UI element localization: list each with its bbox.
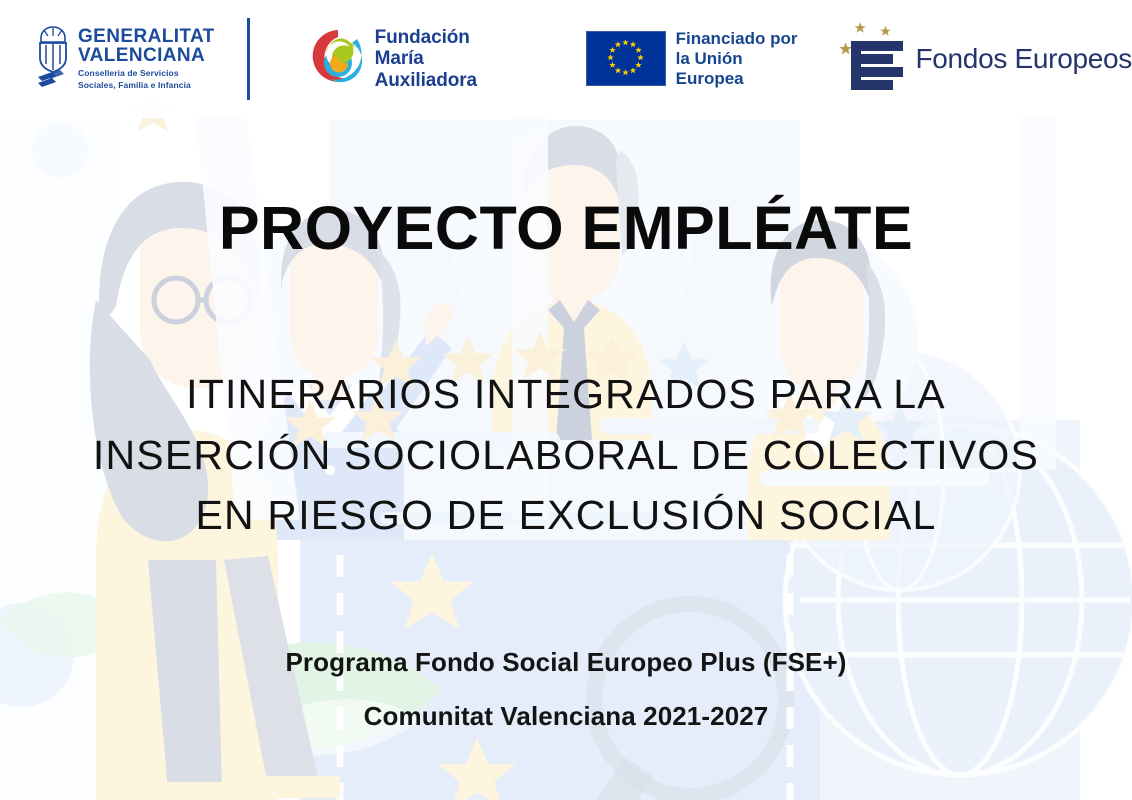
page-title: PROYECTO EMPLÉATE xyxy=(0,198,1132,259)
fondos-europeos-flag-icon xyxy=(831,21,907,98)
gva-subtitle-2: Sociales, Familia e Infancia xyxy=(78,80,215,91)
fondos-europeos-label: Fondos Europeos xyxy=(915,43,1132,75)
subtitle-line-3: EN RIESGO DE EXCLUSIÓN SOCIAL xyxy=(0,485,1132,546)
program-block: Programa Fondo Social Europeo Plus (FSE+… xyxy=(0,636,1132,744)
subtitle-block: ITINERARIOS INTEGRADOS PARA LA INSERCIÓN… xyxy=(0,364,1132,546)
program-line-2: Comunitat Valenciana 2021-2027 xyxy=(0,690,1132,744)
logo-fundacion-maria-auxiliadora: Fundación María Auxiliadora xyxy=(310,27,528,91)
logo-divider xyxy=(247,18,250,100)
valencia-shield-icon xyxy=(36,26,70,93)
logo-generalitat-valenciana: GENERALITAT VALENCIANA Conselleria de Se… xyxy=(36,26,215,93)
eu-text-block: Financiado por la Unión Europea xyxy=(676,29,814,89)
gva-line-1: GENERALITAT xyxy=(78,27,215,46)
logo-fondos-europeos: Fondos Europeos xyxy=(831,21,1132,98)
gva-text-block: GENERALITAT VALENCIANA Conselleria de Se… xyxy=(78,27,215,91)
eu-line-2: la Unión Europea xyxy=(676,49,814,89)
fma-text-block: Fundación María Auxiliadora xyxy=(375,27,528,91)
poster-root: GENERALITAT VALENCIANA Conselleria de Se… xyxy=(0,0,1132,800)
gva-line-2: VALENCIANA xyxy=(78,46,215,65)
swirl-circle-icon xyxy=(310,27,366,90)
subtitle-line-2: INSERCIÓN SOCIOLABORAL DE COLECTIVOS xyxy=(0,425,1132,486)
logo-financiado-union-europea: Financiado por la Unión Europea xyxy=(586,29,814,89)
eu-flag-icon xyxy=(586,31,666,86)
gva-subtitle-1: Conselleria de Servicios xyxy=(78,68,215,79)
fma-line-1: Fundación xyxy=(375,27,528,48)
header-logo-bar: GENERALITAT VALENCIANA Conselleria de Se… xyxy=(0,0,1132,118)
subtitle-line-1: ITINERARIOS INTEGRADOS PARA LA xyxy=(0,364,1132,425)
fma-line-2: María Auxiliadora xyxy=(375,48,528,91)
program-line-1: Programa Fondo Social Europeo Plus (FSE+… xyxy=(0,636,1132,690)
eu-line-1: Financiado por xyxy=(676,29,814,49)
